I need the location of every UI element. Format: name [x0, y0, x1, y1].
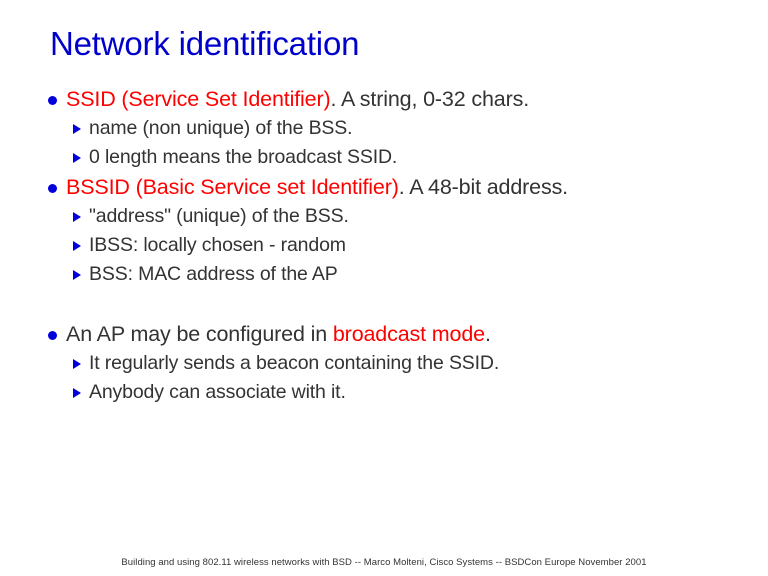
bullet-broadcast-associate: Anybody can associate with it. [0, 378, 768, 407]
bullet-broadcast-beacon-label: It regularly sends a beacon containing t… [89, 352, 499, 374]
bullet-triangle-icon [73, 388, 81, 398]
bullet-triangle-icon [73, 124, 81, 134]
bullet-dot-icon [48, 96, 57, 105]
bullet-bssid-desc: . A 48-bit address. [399, 175, 568, 199]
bullet-broadcast-associate-label: Anybody can associate with it. [89, 381, 346, 403]
bullet-triangle-icon [73, 241, 81, 251]
bullet-ssid-desc: . A string, 0-32 chars. [331, 87, 530, 111]
bullet-bssid-address: "address" (unique) of the BSS. [0, 202, 768, 231]
bullet-triangle-icon [73, 359, 81, 369]
bullet-triangle-icon [73, 270, 81, 280]
bullet-dot-icon [48, 331, 57, 340]
bullet-dot-icon [48, 184, 57, 193]
bullet-triangle-icon [73, 212, 81, 222]
bullet-ssid-zero-length: 0 length means the broadcast SSID. [0, 143, 768, 172]
bullet-group-spacer [0, 289, 768, 319]
bullet-bssid-ibss-label: IBSS: locally chosen - random [89, 234, 346, 256]
bullet-broadcast-mode: An AP may be configured in broadcast mod… [0, 319, 768, 349]
bullet-broadcast-lead: An AP may be configured in [66, 322, 333, 346]
bullet-broadcast-beacon: It regularly sends a beacon containing t… [0, 349, 768, 378]
page-title: Network identification [50, 24, 359, 64]
bullet-bssid-bss-label: BSS: MAC address of the AP [89, 263, 338, 285]
bullet-ssid-zero-length-label: 0 length means the broadcast SSID. [89, 146, 397, 168]
bullet-ssid-name-label: name (non unique) of the BSS. [89, 117, 352, 139]
bullet-bssid: BSSID (Basic Service set Identifier). A … [0, 172, 768, 202]
presentation-slide: Network identification SSID (Service Set… [0, 0, 768, 576]
bullet-bssid-term: BSSID (Basic Service set Identifier) [66, 175, 399, 199]
bullet-triangle-icon [73, 153, 81, 163]
slide-footer: Building and using 802.11 wireless netwo… [0, 556, 768, 569]
slide-body: SSID (Service Set Identifier). A string,… [0, 84, 768, 407]
bullet-bssid-ibss: IBSS: locally chosen - random [0, 231, 768, 260]
bullet-broadcast-tail: . [485, 322, 491, 346]
bullet-broadcast-term: broadcast mode [333, 322, 485, 346]
bullet-ssid: SSID (Service Set Identifier). A string,… [0, 84, 768, 114]
bullet-bssid-address-label: "address" (unique) of the BSS. [89, 205, 349, 227]
bullet-ssid-name: name (non unique) of the BSS. [0, 114, 768, 143]
bullet-bssid-bss: BSS: MAC address of the AP [0, 260, 768, 289]
bullet-ssid-term: SSID (Service Set Identifier) [66, 87, 331, 111]
